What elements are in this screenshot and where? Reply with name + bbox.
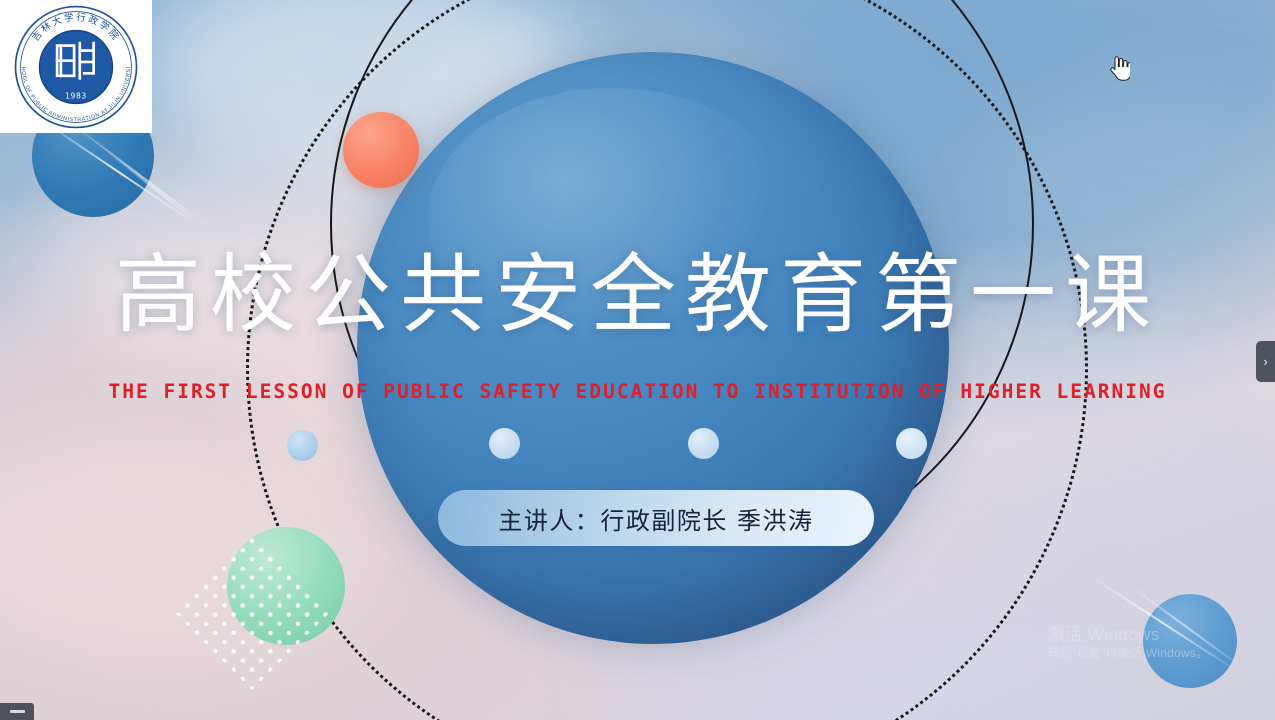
speaker-banner: 主讲人：行政副院长 季洪涛 (438, 490, 874, 546)
chevron-right-icon: › (1263, 354, 1267, 369)
slide-title: 高校公共安全教育第一课 (0, 252, 1275, 338)
svg-text:1983: 1983 (65, 91, 87, 100)
hero-blue-circle (357, 52, 949, 644)
university-logo-plate: 1983 吉林大学行政学院 SCHOOL OF PUBLIC ADMINISTR… (0, 0, 152, 133)
presentation-slide: 1983 吉林大学行政学院 SCHOOL OF PUBLIC ADMINISTR… (0, 0, 1275, 720)
speaker-name-text: 主讲人：行政副院长 季洪涛 (498, 501, 813, 536)
panel-expand-tab[interactable]: › (1256, 341, 1275, 382)
university-seal-icon: 1983 吉林大学行政学院 SCHOOL OF PUBLIC ADMINISTR… (13, 4, 139, 130)
slide-subtitle: THE FIRST LESSON OF PUBLIC SAFETY EDUCAT… (0, 380, 1275, 403)
toolbar-corner-stub[interactable] (0, 703, 34, 720)
minimize-bar-icon (10, 710, 25, 713)
